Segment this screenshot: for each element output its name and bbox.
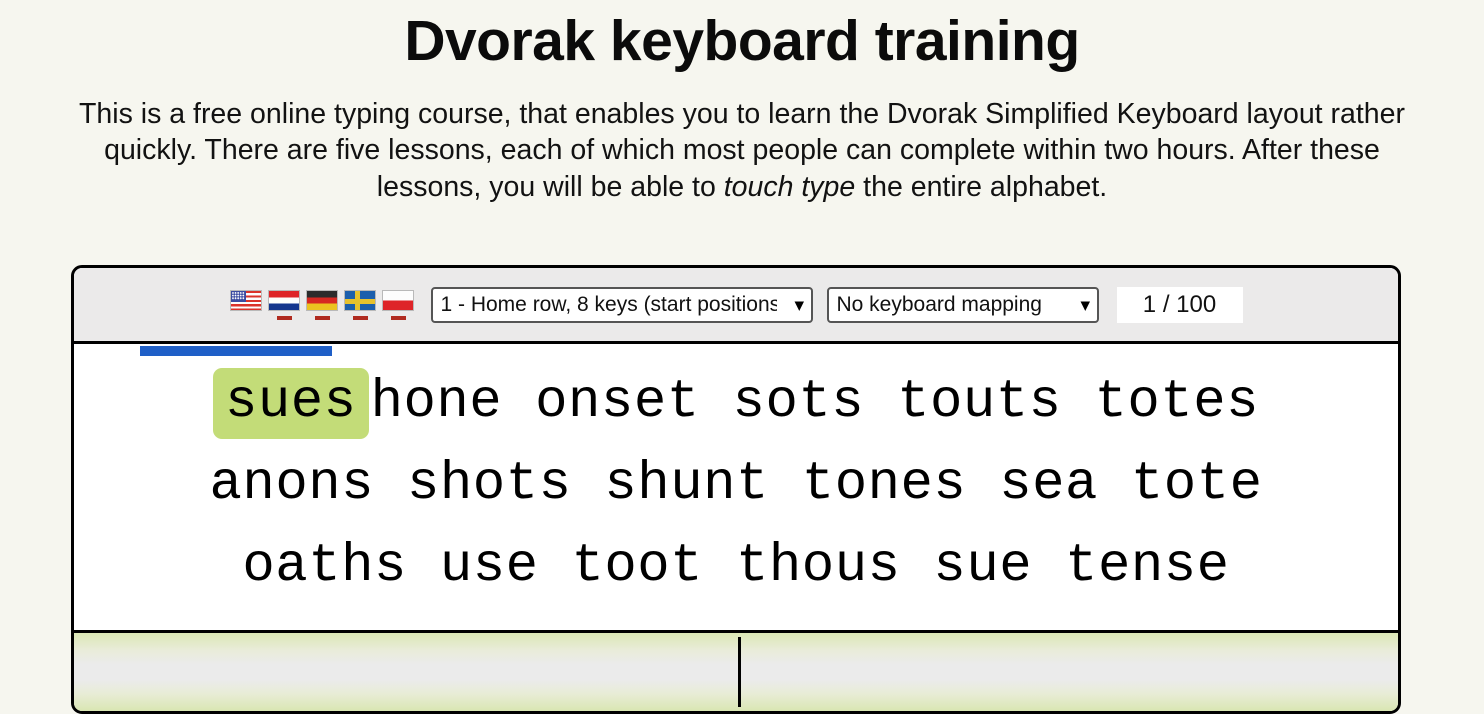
intro-text-part2: the entire alphabet. — [855, 171, 1107, 203]
typing-input-area[interactable] — [74, 633, 1398, 711]
exercise-line-1: sueshone onset sots touts totes — [96, 362, 1376, 444]
progress-counter[interactable]: 1 / 100 — [1117, 287, 1243, 323]
flag-underline-mark — [277, 316, 292, 320]
typing-trainer-panel: 1 - Home row, 8 keys (start positions) ▾… — [71, 265, 1401, 714]
focus-indicator-bar — [140, 346, 332, 356]
netherlands-flag-icon — [268, 290, 300, 311]
germany-flag-icon — [306, 290, 338, 311]
united-states-flag[interactable] — [230, 290, 262, 320]
lesson-select-wrapper: 1 - Home row, 8 keys (start positions) ▾ — [431, 287, 813, 323]
poland-flag[interactable] — [382, 290, 414, 320]
flag-underline-mark — [353, 316, 368, 320]
netherlands-flag[interactable] — [268, 290, 300, 320]
text-cursor — [738, 637, 741, 707]
germany-flag[interactable] — [306, 290, 338, 320]
flag-underline-mark — [315, 316, 330, 320]
sweden-flag[interactable] — [344, 290, 376, 320]
trainer-toolbar: 1 - Home row, 8 keys (start positions) ▾… — [74, 268, 1398, 344]
lesson-select[interactable]: 1 - Home row, 8 keys (start positions) — [431, 287, 813, 323]
intro-paragraph: This is a free online typing course, tha… — [0, 74, 1484, 205]
keyboard-mapping-select[interactable]: No keyboard mapping — [827, 287, 1099, 323]
flag-underline-mark — [391, 316, 406, 320]
active-word-highlight: sues — [213, 368, 369, 439]
exercise-line-3: oaths use toot thous sue tense — [96, 526, 1376, 608]
exercise-line-1-rest: hone onset sots touts totes — [371, 372, 1259, 433]
sweden-flag-icon — [344, 290, 376, 311]
united-states-flag-icon — [230, 290, 262, 311]
exercise-line-2: anons shots shunt tones sea tote — [96, 444, 1376, 526]
mapping-select-wrapper: No keyboard mapping ▾ — [827, 287, 1099, 323]
poland-flag-icon — [382, 290, 414, 311]
language-flag-group — [230, 290, 414, 320]
intro-text-emphasis: touch type — [724, 171, 856, 203]
page-title: Dvorak keyboard training — [0, 0, 1484, 74]
exercise-text-display: sueshone onset sots touts totes anons sh… — [74, 344, 1398, 633]
